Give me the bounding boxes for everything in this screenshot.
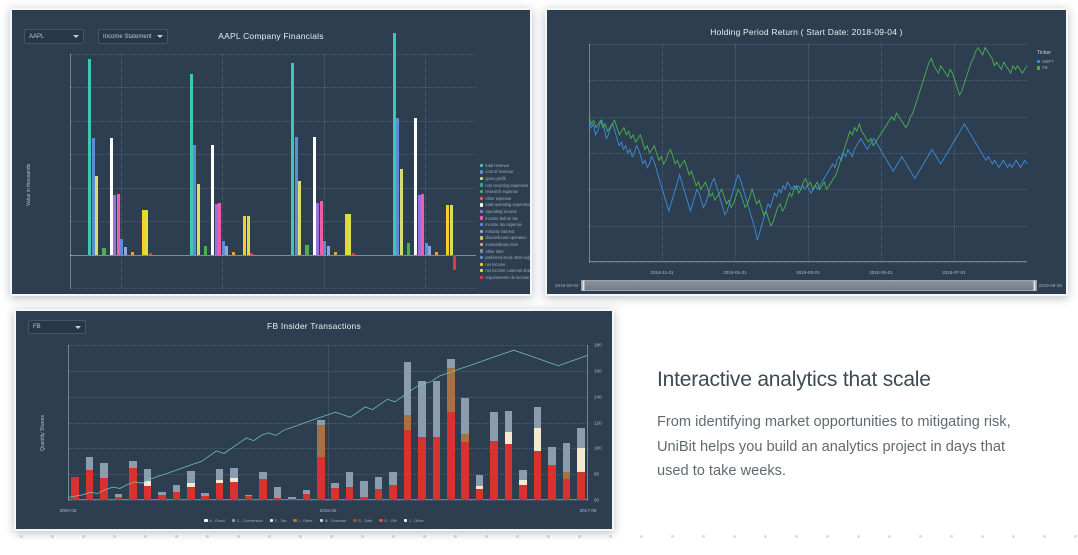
legend-swatch-operating-income bbox=[480, 210, 483, 213]
line-series-FB bbox=[589, 48, 1027, 226]
insider-y-axis-title: Quantity Shares bbox=[40, 415, 46, 451]
x-axis-tick-label: 2019-07-01 bbox=[942, 270, 966, 275]
legend-label: income before tax bbox=[485, 216, 518, 221]
line-series-MSFT bbox=[589, 120, 1027, 240]
x-axis-tick-label: 2017-09 bbox=[580, 508, 597, 513]
legend-swatch-M---Exercise bbox=[320, 519, 323, 522]
bar-minority-interest bbox=[225, 246, 228, 254]
x-axis-tick-label: 2019-01-01 bbox=[723, 270, 747, 275]
bar-minority-interest bbox=[327, 246, 330, 254]
legend-item[interactable]: S - Sale bbox=[353, 517, 372, 524]
legend-label: net income bbox=[485, 262, 505, 267]
financials-legend[interactable]: total revenuecost of revenuegross profit… bbox=[480, 162, 532, 281]
x-axis-tick-label: 2016-02 bbox=[320, 508, 337, 513]
bar-requirements-de-income bbox=[453, 255, 456, 270]
bar-requirements-de-income bbox=[352, 253, 355, 255]
marketing-body: From identifying market opportunities to… bbox=[657, 410, 1037, 484]
legend-label: non recurring expenses bbox=[485, 183, 528, 188]
holding-return-plot-area bbox=[589, 44, 1027, 262]
y2-axis-tick-label: 60 bbox=[594, 498, 614, 503]
legend-label: S - Sale bbox=[358, 518, 372, 523]
range-handle-left[interactable] bbox=[582, 280, 585, 291]
bar-research-expense bbox=[407, 243, 410, 255]
legend-item[interactable]: total revenue bbox=[480, 162, 532, 169]
legend-swatch-gross-profit bbox=[480, 177, 483, 180]
legend-item[interactable]: income before tax bbox=[480, 215, 532, 222]
legend-label: preferred stock other adj bbox=[485, 255, 529, 260]
legend-label: requirements de income bbox=[485, 275, 529, 280]
legend-swatch-requirements-de-income bbox=[480, 276, 483, 279]
legend-swatch-net-income bbox=[480, 263, 483, 266]
bar-gross-profit bbox=[298, 181, 301, 255]
legend-label: M - Exercise bbox=[325, 518, 347, 523]
bar-extraordinary-item bbox=[435, 252, 438, 255]
x-axis-tick-label: 2000-03 bbox=[60, 508, 77, 513]
bar-minority-interest bbox=[428, 246, 431, 254]
legend-item[interactable]: FB bbox=[1037, 65, 1054, 72]
legend-item[interactable]: requirements de income bbox=[480, 274, 532, 281]
legend-item[interactable]: minority interest bbox=[480, 228, 532, 235]
y2-axis-tick-label: 160 bbox=[594, 368, 614, 373]
zero-axis-line bbox=[70, 255, 476, 256]
range-end-label: 2019-08-30 bbox=[1039, 283, 1063, 288]
x-axis-tick-label: 9/24/2016 bbox=[192, 294, 252, 296]
legend-item[interactable]: cost of revenue bbox=[480, 169, 532, 176]
bar-extraordinary-item bbox=[232, 252, 235, 255]
grid-line-horizontal bbox=[70, 288, 476, 289]
legend-swatch-C---Conversion bbox=[232, 519, 235, 522]
bar-net-income-common-share bbox=[145, 210, 148, 255]
x-axis-tick-label: 2019-03-01 bbox=[796, 270, 820, 275]
legend-item[interactable]: MSFT bbox=[1037, 58, 1054, 65]
bar-net-income-common-share bbox=[247, 216, 250, 254]
legend-swatch-income-tax-expense bbox=[480, 223, 483, 226]
financials-chart-title: AAPL Company Financials bbox=[12, 31, 530, 41]
marketing-copy: Interactive analytics that scale From id… bbox=[657, 368, 1037, 484]
legend-title: Ticker bbox=[1037, 50, 1054, 56]
legend-swatch-total-operating-expenses bbox=[480, 203, 483, 206]
legend-item[interactable]: income tax expense bbox=[480, 221, 532, 228]
legend-label: gross profit bbox=[485, 176, 505, 181]
bar-net-income-common-share bbox=[348, 214, 351, 254]
holding-return-chart-panel: Holding Period Return ( Start Date: 2018… bbox=[545, 8, 1068, 296]
legend-item[interactable]: A - Grant bbox=[204, 517, 225, 524]
legend-label: research expense bbox=[485, 189, 518, 194]
legend-swatch-MSFT bbox=[1037, 60, 1040, 63]
bar-research-expense bbox=[204, 246, 207, 254]
x-axis-tick-label: 2019-05-01 bbox=[869, 270, 893, 275]
legend-swatch-FB bbox=[1037, 66, 1040, 69]
legend-item[interactable]: other item bbox=[480, 248, 532, 255]
legend-item[interactable]: operating income bbox=[480, 208, 532, 215]
bar-requirements-de-income bbox=[149, 253, 152, 255]
insider-chart-title: FB Insider Transactions bbox=[16, 321, 612, 331]
y2-axis-tick-label: 80 bbox=[594, 472, 614, 477]
legend-swatch-J---Other bbox=[404, 519, 407, 522]
legend-swatch-non-recurring-expenses bbox=[480, 183, 483, 186]
legend-swatch-I---Other bbox=[293, 519, 296, 522]
legend-item[interactable]: preferred stock other adj bbox=[480, 254, 532, 261]
legend-swatch-other-item bbox=[480, 249, 483, 252]
legend-label: cost of revenue bbox=[485, 169, 513, 174]
legend-item[interactable]: net income bbox=[480, 261, 532, 268]
x-axis-tick-label: 9/29/2018 bbox=[395, 294, 455, 296]
legend-item[interactable]: extraordinary item bbox=[480, 241, 532, 248]
legend-item[interactable]: C - Conversion bbox=[232, 517, 263, 524]
legend-label: G - Gift bbox=[384, 518, 397, 523]
legend-label: C - Conversion bbox=[237, 518, 263, 523]
grid-line-horizontal bbox=[70, 54, 476, 55]
holding-return-lines bbox=[589, 44, 1027, 262]
legend-label: other item bbox=[485, 249, 503, 254]
price-line-path bbox=[68, 350, 588, 497]
legend-swatch-net-income-common-share bbox=[480, 269, 483, 272]
insider-plot-area bbox=[68, 345, 588, 500]
legend-label: F - Tax bbox=[275, 518, 287, 523]
legend-item[interactable]: non recurring expenses bbox=[480, 182, 532, 189]
insider-price-line bbox=[68, 345, 588, 500]
y2-axis-tick-label: 120 bbox=[594, 420, 614, 425]
legend-swatch-total-revenue bbox=[480, 164, 483, 167]
legend-item[interactable]: G - Gift bbox=[379, 517, 397, 524]
legend-item[interactable]: I - Other bbox=[293, 517, 312, 524]
range-handle-right[interactable] bbox=[1033, 280, 1036, 291]
bar-net-income-common-share bbox=[450, 205, 453, 255]
legend-item[interactable]: M - Exercise bbox=[320, 517, 347, 524]
grid-line-horizontal bbox=[70, 87, 476, 88]
bar-minority-interest bbox=[124, 247, 127, 255]
legend-swatch-other-expense bbox=[480, 197, 483, 200]
legend-swatch-A---Grant bbox=[204, 519, 207, 522]
bar-extraordinary-item bbox=[334, 252, 337, 255]
legend-label: minority interest bbox=[485, 229, 514, 234]
legend-swatch-cost-of-revenue bbox=[480, 170, 483, 173]
financials-y-axis-title: Value in thousands bbox=[26, 164, 32, 206]
legend-item[interactable]: gross profit bbox=[480, 175, 532, 182]
financials-chart-panel: AAPL Income Statement AAPL Company Finan… bbox=[10, 8, 532, 296]
grid-line-horizontal bbox=[68, 500, 588, 501]
legend-label: FB bbox=[1042, 65, 1047, 70]
legend-label: income tax expense bbox=[485, 222, 521, 227]
financials-plot-area bbox=[70, 54, 476, 288]
bar-gross-profit bbox=[95, 176, 98, 254]
legend-label: net income common share bbox=[485, 268, 532, 273]
y2-axis-tick-label: 100 bbox=[594, 446, 614, 451]
range-start-label: 2018-09-04 bbox=[555, 283, 579, 288]
legend-item[interactable]: other expense bbox=[480, 195, 532, 202]
legend-swatch-research-expense bbox=[480, 190, 483, 193]
bar-extraordinary-item bbox=[131, 252, 134, 255]
marketing-heading: Interactive analytics that scale bbox=[657, 368, 1037, 392]
legend-label: I - Other bbox=[298, 518, 312, 523]
legend-item[interactable]: J - Other bbox=[404, 517, 424, 524]
legend-label: J - Other bbox=[409, 518, 424, 523]
insider-legend[interactable]: A - GrantC - ConversionF - TaxI - OtherM… bbox=[16, 517, 612, 524]
legend-label: total revenue bbox=[485, 163, 509, 168]
legend-swatch-income-before-tax bbox=[480, 216, 483, 219]
y2-axis-tick-label: 140 bbox=[594, 394, 614, 399]
x-axis-tick-label: 9/30/2017 bbox=[294, 294, 354, 296]
legend-swatch-minority-interest bbox=[480, 230, 483, 233]
legend-item[interactable]: discontinued operation bbox=[480, 235, 532, 242]
legend-label: extraordinary item bbox=[485, 242, 518, 247]
legend-label: A - Grant bbox=[209, 518, 225, 523]
date-range-slider[interactable]: 2018-09-04 2019-08-30 bbox=[555, 280, 1062, 291]
y-axis-line bbox=[70, 54, 71, 288]
legend-label: other expense bbox=[485, 196, 511, 201]
legend-swatch-S---Sale bbox=[353, 519, 356, 522]
y2-axis-tick-label: 180 bbox=[594, 343, 614, 348]
legend-item[interactable]: research expense bbox=[480, 188, 532, 195]
legend-swatch-discontinued-operation bbox=[480, 236, 483, 239]
legend-swatch-extraordinary-item bbox=[480, 243, 483, 246]
bar-gross-profit bbox=[197, 184, 200, 254]
legend-swatch-F---Tax bbox=[270, 519, 273, 522]
legend-label: discontinued operation bbox=[485, 235, 526, 240]
bar-research-expense bbox=[305, 245, 308, 255]
x-axis-tick-label: 2018-11-01 bbox=[650, 270, 673, 275]
insider-transactions-chart-panel: FB FB Insider Transactions Quantity Shar… bbox=[14, 309, 614, 531]
bar-gross-profit bbox=[400, 169, 403, 254]
legend-item[interactable]: total operating expenses bbox=[480, 202, 532, 209]
page-root: AAPL Income Statement AAPL Company Finan… bbox=[0, 0, 1078, 555]
legend-swatch-preferred-stock-other-adj bbox=[480, 256, 483, 259]
bar-research-expense bbox=[102, 248, 105, 255]
legend-item[interactable]: net income common share bbox=[480, 268, 532, 275]
x-axis-tick-label: 9/26/2015 bbox=[91, 294, 151, 296]
legend-swatch-G---Gift bbox=[379, 519, 382, 522]
legend-label: operating income bbox=[485, 209, 516, 214]
grid-line-horizontal bbox=[589, 262, 1027, 263]
legend-item[interactable]: F - Tax bbox=[270, 517, 287, 524]
holding-return-chart-title: Holding Period Return ( Start Date: 2018… bbox=[547, 27, 1066, 37]
bar-requirements-de-income bbox=[250, 253, 253, 255]
legend-label: MSFT bbox=[1042, 59, 1053, 64]
range-track[interactable] bbox=[581, 280, 1037, 291]
legend-label: total operating expenses bbox=[485, 202, 530, 207]
holding-return-legend[interactable]: Ticker MSFTFB bbox=[1037, 50, 1054, 71]
